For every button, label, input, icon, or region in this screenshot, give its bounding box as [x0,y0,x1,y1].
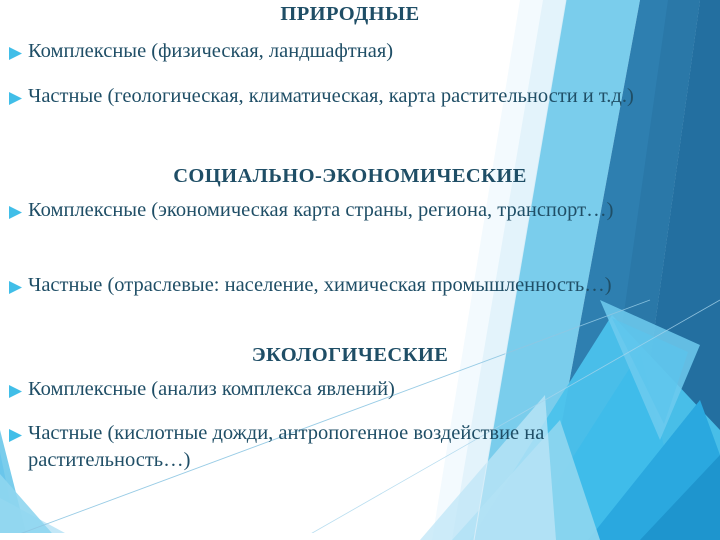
triangle-right-icon [0,376,28,398]
list-item[interactable]: Частные (геологическая, климатическая, к… [0,83,700,110]
slide-content: ПРИРОДНЫЕ Комплексные (физическая, ландш… [0,0,700,540]
triangle-right-icon [0,420,28,442]
list-item[interactable]: Комплексные (анализ комплекса явлений) [0,376,700,403]
section-heading-socio-economic: СОЦИАЛЬНО-ЭКОНОМИЧЕСКИЕ [0,165,700,188]
list-item[interactable]: Частные (кислотные дожди, антропогенное … [0,420,700,473]
section-heading-ecological: ЭКОЛОГИЧЕСКИЕ [0,344,700,367]
list-item-label: Комплексные (экономическая карта страны,… [28,197,700,224]
presentation-slide: ПРИРОДНЫЕ Комплексные (физическая, ландш… [0,0,720,540]
list-item-label: Частные (геологическая, климатическая, к… [28,83,700,110]
list-item-label: Комплексные (анализ комплекса явлений) [28,376,700,403]
triangle-right-icon [0,197,28,219]
list-item[interactable]: Частные (отраслевые: население, химическ… [0,272,700,299]
list-item-label: Комплексные (физическая, ландшафтная) [28,38,700,65]
triangle-right-icon [0,38,28,60]
list-item-label: Частные (кислотные дожди, антропогенное … [28,420,700,473]
section-heading-natural: ПРИРОДНЫЕ [0,3,700,26]
triangle-right-icon [0,83,28,105]
list-item[interactable]: Комплексные (экономическая карта страны,… [0,197,700,224]
triangle-right-icon [0,272,28,294]
list-item[interactable]: Комплексные (физическая, ландшафтная) [0,38,700,65]
list-item-label: Частные (отраслевые: население, химическ… [28,272,700,299]
